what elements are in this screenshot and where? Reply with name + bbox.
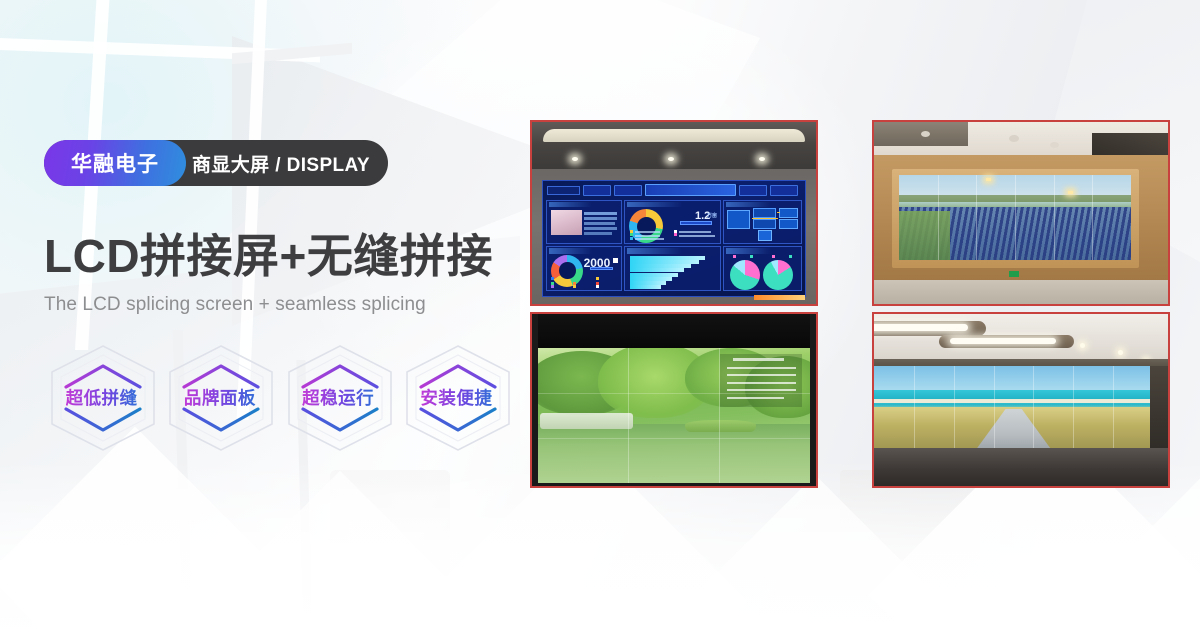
- wall-end: [1150, 366, 1168, 455]
- legend-label: [635, 235, 660, 237]
- card-text-line: [584, 212, 617, 215]
- shoreline: [874, 399, 1153, 403]
- dashboard-card-statistics: 1.2 万亩: [624, 200, 721, 245]
- flow-node: [779, 219, 798, 228]
- panel-seam: [538, 438, 811, 439]
- panel-seam: [1092, 175, 1093, 261]
- legend-label: [679, 231, 711, 233]
- legend-marker: [733, 255, 736, 258]
- card-header: [726, 202, 771, 208]
- dashboard-card-intro: [546, 200, 622, 245]
- calendar-week-row: [727, 389, 796, 391]
- flow-node: [758, 230, 772, 240]
- legend-label: [679, 235, 715, 237]
- stat-chip: [590, 267, 614, 271]
- legend-label: [635, 231, 660, 233]
- panel-seam: [1073, 366, 1074, 452]
- feature-badge-list: 超低拼缝 品牌面板: [44, 342, 514, 454]
- panel-seam: [976, 175, 977, 261]
- calendar-week-row: [727, 367, 796, 369]
- promo-banner: 商显大屏 / DISPLAY 华融电子 LCD拼接屏+无缝拼接 The LCD …: [0, 0, 1200, 640]
- floor: [874, 280, 1168, 304]
- feature-badge-3-label: 超稳运行: [302, 385, 374, 410]
- brand-pill-label: 华融电子: [71, 148, 159, 178]
- panel-seam: [1015, 175, 1016, 261]
- pie-chart: [730, 260, 760, 290]
- flow-node: [753, 208, 776, 217]
- stat-unit: 万亩: [707, 212, 717, 219]
- legend-marker: [573, 282, 576, 285]
- photo-content: [532, 314, 816, 486]
- sky: [874, 366, 1153, 392]
- panel-seam: [994, 366, 995, 452]
- card-header: [549, 248, 592, 254]
- calendar-week-row: [727, 397, 784, 399]
- dashboard-nav-chip: [583, 185, 611, 195]
- brand-badge: 商显大屏 / DISPLAY 华融电子: [44, 140, 388, 188]
- panel-seam: [1054, 175, 1055, 261]
- panel-seam: [938, 175, 939, 261]
- pond-water: [538, 424, 811, 483]
- panel-seam: [719, 348, 720, 482]
- calendar-week-row: [727, 374, 796, 376]
- legend-marker: [630, 237, 633, 240]
- card-header: [627, 202, 682, 208]
- floor: [874, 448, 1168, 486]
- pond-bank-railing: [540, 413, 633, 429]
- panel-seam: [1033, 366, 1034, 452]
- wall-bezel-left: [532, 314, 538, 486]
- legend-marker: [596, 277, 599, 280]
- card-header: [627, 248, 682, 254]
- ceiling-cove-light: [543, 129, 804, 142]
- legend-marker: [551, 277, 554, 280]
- brand-pill: 华融电子: [44, 140, 186, 186]
- photo-content: 1.2 万亩: [532, 122, 816, 304]
- panel-seam: [954, 366, 955, 452]
- green-field: [899, 211, 950, 261]
- ceiling-speaker: [1009, 135, 1019, 142]
- panel-seam: [1113, 366, 1114, 452]
- video-wall-screen: [538, 348, 811, 482]
- wall-bezel-bottom: [532, 483, 816, 486]
- video-wall-screen: 1.2 万亩: [542, 180, 806, 296]
- flow-connector: [777, 212, 780, 213]
- flow-connector: [752, 218, 778, 219]
- legend-marker: [596, 285, 599, 288]
- bar-item: [630, 285, 660, 289]
- dashboard-navbar: [545, 183, 803, 197]
- product-photo-dashboard-wall: 1.2 万亩: [530, 120, 818, 306]
- calendar-week-row: [727, 382, 796, 384]
- feature-badge-4-label: 安装便捷: [420, 385, 492, 410]
- page-title: LCD拼接屏+无缝拼接: [44, 232, 514, 282]
- ceiling-light-strip: [872, 324, 968, 331]
- dashboard-card-pie-charts: [723, 246, 802, 291]
- legend-label: [635, 238, 664, 240]
- legend-marker: [596, 282, 599, 285]
- photo-content: [874, 314, 1168, 486]
- feature-badge-1-label: 超低拼缝: [66, 385, 138, 410]
- legend-marker: [789, 255, 792, 258]
- feature-badge-2: 品牌面板: [162, 342, 277, 454]
- donut-chart: [551, 255, 583, 287]
- page-subtitle: The LCD splicing screen + seamless splic…: [44, 294, 514, 316]
- flow-node: [727, 210, 750, 229]
- dashboard-timestamp: [547, 186, 580, 195]
- feature-badge-3: 超稳运行: [281, 342, 396, 454]
- legend-marker: [573, 285, 576, 288]
- video-wall-screen: [899, 175, 1131, 261]
- product-photo-beach-wall: [872, 312, 1170, 488]
- wall-washer-light: [986, 178, 991, 181]
- card-text-line: [584, 222, 615, 225]
- legend-marker: [750, 255, 753, 258]
- calendar-title: [733, 358, 784, 361]
- dashboard-nav-chip: [770, 185, 798, 195]
- dashboard-card-flow-diagram: [723, 200, 802, 245]
- dashboard-card-bar-chart: [624, 246, 721, 291]
- exit-sign-icon: [1009, 271, 1019, 277]
- panel-seam: [914, 366, 915, 452]
- product-photo-pond-wall: [530, 312, 818, 488]
- wall-washer-light: [1068, 191, 1073, 194]
- flow-node: [753, 219, 776, 228]
- wall-bezel-top: [532, 314, 816, 348]
- ceiling-spotlight: [668, 157, 674, 161]
- pie-chart: [763, 260, 793, 290]
- ceiling-spotlight: [572, 157, 578, 161]
- photo-content: [874, 122, 1168, 304]
- feature-badge-4: 安装便捷: [399, 342, 514, 454]
- stat-unit-marker: [613, 258, 618, 263]
- calendar-overlay: [720, 354, 802, 408]
- legend-marker: [674, 233, 677, 236]
- headline-column: 商显大屏 / DISPLAY 华融电子 LCD拼接屏+无缝拼接 The LCD …: [44, 140, 514, 454]
- product-photo-solar-wall: [872, 120, 1170, 306]
- legend-marker: [573, 277, 576, 280]
- legend-marker: [551, 282, 554, 285]
- stat-chip: [680, 221, 712, 225]
- legend-marker: [551, 285, 554, 288]
- dashboard-nav-chip: [739, 185, 767, 195]
- dashboard-title-plate: [645, 184, 736, 196]
- wall-bezel-right: [810, 314, 816, 486]
- card-header: [726, 248, 771, 254]
- legend-marker: [772, 255, 775, 258]
- category-pill-label: 商显大屏 / DISPLAY: [192, 150, 370, 177]
- dashboard-card-grid: 1.2 万亩: [545, 198, 803, 293]
- card-text-line: [584, 232, 612, 235]
- ceiling-spotlight: [759, 157, 765, 161]
- card-thumbnail: [551, 210, 582, 235]
- feature-badge-1: 超低拼缝: [44, 342, 159, 454]
- panel-seam: [538, 393, 811, 394]
- dashboard-nav-chip: [614, 185, 642, 195]
- card-text-line: [584, 217, 617, 220]
- video-wall-screen: [874, 366, 1153, 452]
- shrub: [685, 420, 756, 432]
- card-header: [549, 202, 592, 208]
- feature-badge-2-label: 品牌面板: [184, 385, 256, 410]
- ceiling-light-strip: [950, 338, 1056, 344]
- dashboard-footer-badge: [754, 295, 805, 300]
- flow-node: [779, 208, 798, 217]
- dashboard-card-area-stats: 2000: [546, 246, 622, 291]
- panel-seam: [628, 348, 629, 482]
- card-text-line: [584, 227, 617, 230]
